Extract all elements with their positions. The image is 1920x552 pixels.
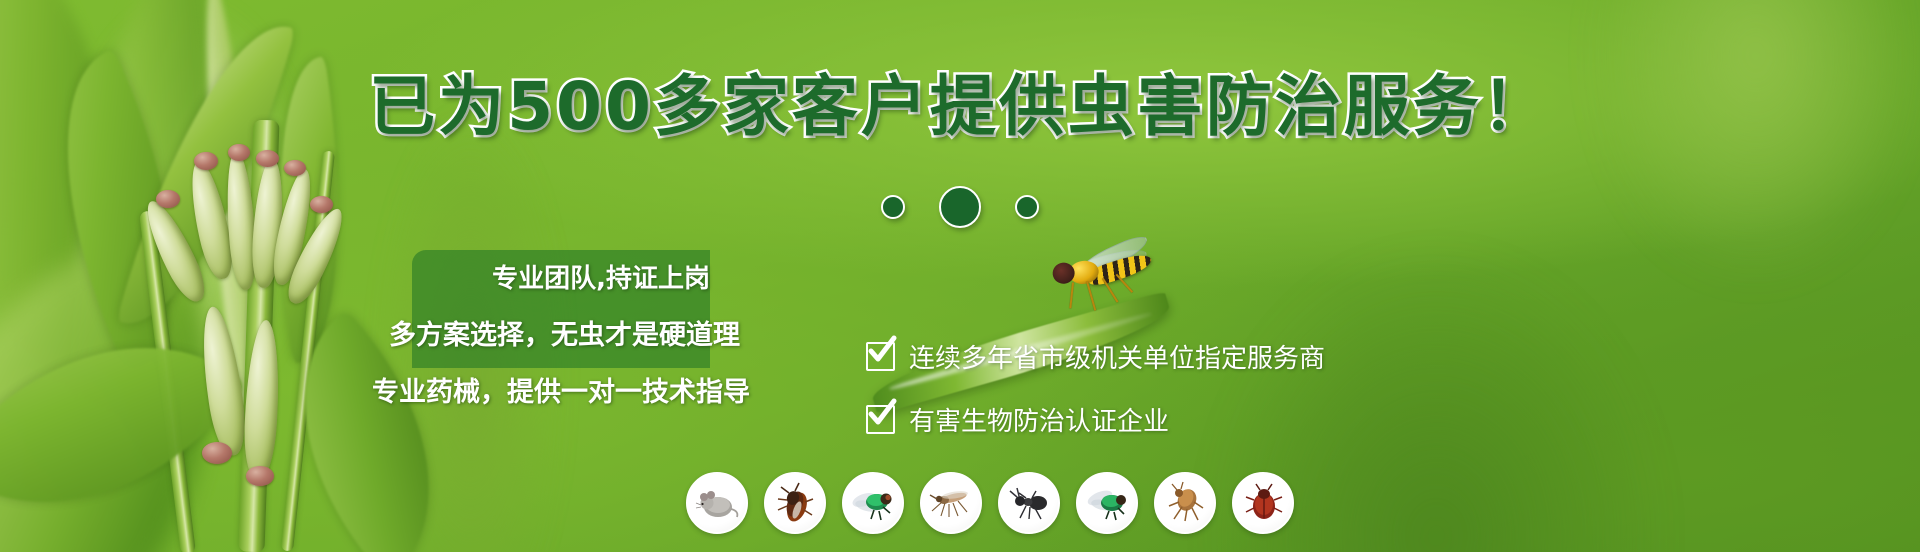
dot-large-center [939,186,981,228]
bud-tip [228,144,250,161]
checkbox-check-icon [866,405,895,434]
checkbox-check-icon [866,342,895,371]
banner-headline: 已为500多家客户提供虫害防治服务！ [0,74,1920,140]
bud-tip [284,160,306,176]
pest-icon-mosquito [920,472,982,534]
hoverfly-leg [1069,282,1074,308]
checklist-row: 有害生物防治认证企业 [866,401,1325,438]
hoverfly-leg [1086,281,1096,310]
bud-tip [246,466,274,486]
checklist-row: 连续多年省市级机关单位指定服务商 [866,338,1325,375]
ant-icon [1006,480,1052,526]
pest-icon-fly [1076,472,1138,534]
pest-icon-cockroach [764,472,826,534]
pest-icon-strip [686,472,1294,534]
mouse-icon [694,480,740,526]
claim-text-group: 专业团队,持证上岗 多方案选择，无虫才是硬道理 专业药械，提供一对一技术指导 [330,258,750,409]
flower-bud [196,304,251,457]
fly-icon [1084,480,1130,526]
claim-line-2: 多方案选择，无虫才是硬道理 [330,313,750,352]
flower-bud [242,319,282,480]
pest-icon-bedbug [1232,472,1294,534]
mosquito-icon [928,480,974,526]
claim-line-1: 专业团队,持证上岗 [330,258,750,295]
pest-icon-bottle-fly [842,472,904,534]
pest-control-banner: 已为500多家客户提供虫害防治服务！ 专业团队,持证上岗 多方案选择，无虫才是硬… [0,0,1920,552]
checklist-label: 有害生物防治认证企业 [909,401,1169,438]
checklist-label: 连续多年省市级机关单位指定服务商 [909,338,1325,375]
credentials-checklist: 连续多年省市级机关单位指定服务商 有害生物防治认证企业 [866,338,1325,464]
bud-tip [202,442,232,464]
dot-small-right [1015,195,1039,219]
flea-icon [1162,480,1208,526]
pest-icon-flea [1154,472,1216,534]
bud-tip [194,152,218,170]
bedbug-icon [1240,480,1286,526]
bud-tip [256,150,279,167]
pest-icon-mouse [686,472,748,534]
decorative-dot-row [0,186,1920,228]
dot-small-left [881,195,905,219]
claim-line-3: 专业药械，提供一对一技术指导 [330,370,750,409]
pest-icon-ant [998,472,1060,534]
cockroach-icon [772,480,818,526]
bottle-fly-icon [850,480,896,526]
